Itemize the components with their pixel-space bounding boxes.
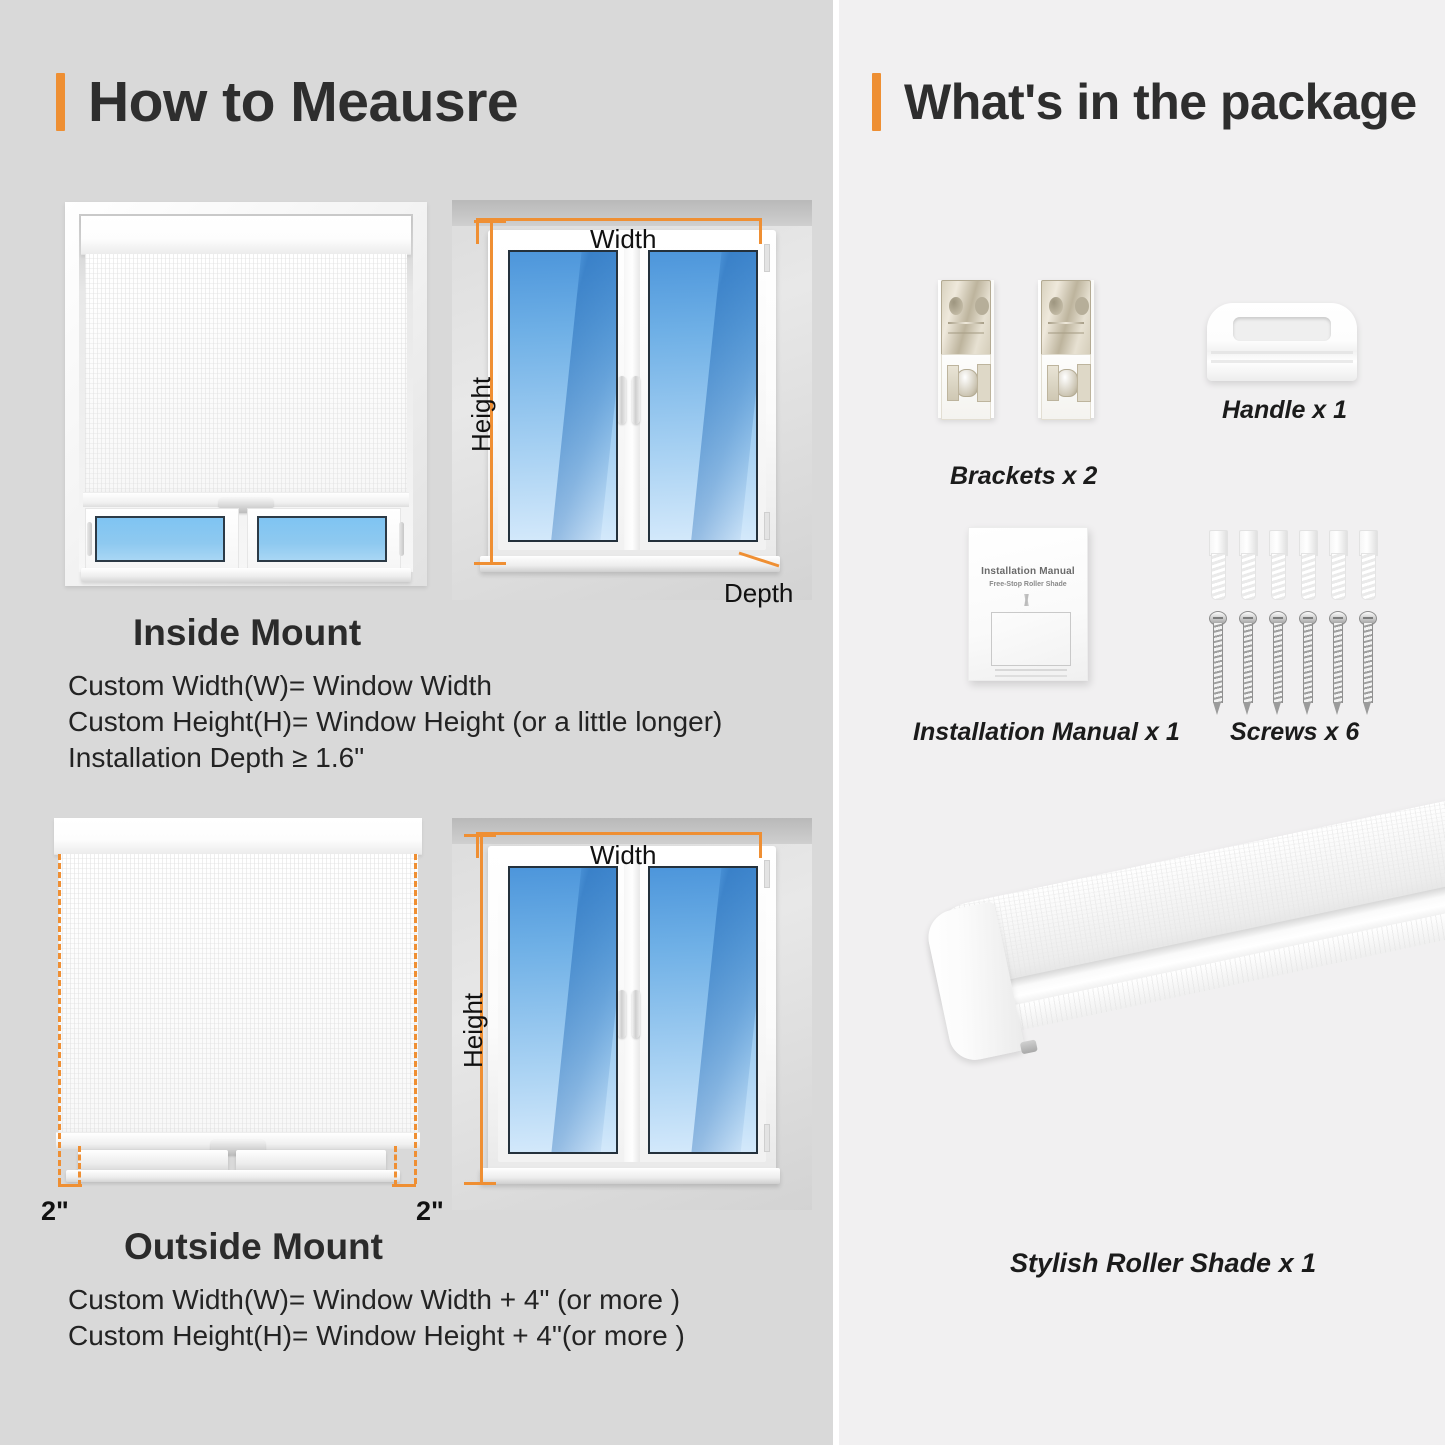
accent-bar-icon [872,73,881,131]
window-sill-ledge [66,1170,400,1182]
wall-anchor-1 [1209,530,1226,598]
screw-2 [1239,611,1255,715]
label-width: Width [590,224,656,255]
width-measure-line [476,218,762,221]
outside-mount-shade-illustration [36,810,440,1202]
how-to-measure-header: How to Meausre [56,73,518,131]
window-hinge-top-icon [764,244,770,272]
anchor-body [1301,553,1316,600]
infographic-page: How to Meausre [0,0,1445,1445]
sash-handle-right-icon [399,522,404,556]
screw-4 [1299,611,1315,715]
outside-mount-spec-2: Custom Height(H)= Window Height + 4"(or … [68,1320,685,1352]
bracket-item-1 [938,280,994,418]
height-measure-cap-bottom [464,1182,496,1185]
inside-mount-spec-1: Custom Width(W)= Window Width [68,670,492,702]
screw-shaft [1363,623,1373,703]
window-sill-left [78,1150,228,1172]
label-height: Height [458,993,489,1068]
width-measure-line [476,832,762,835]
window-sill [480,1168,780,1184]
shade-fabric [58,854,418,1134]
overhang-arrow-left [58,1184,82,1187]
overhang-arrow-right [392,1184,416,1187]
screw-tip [1273,702,1281,715]
screw-shaft [1243,623,1253,703]
whats-in-package-header: What's in the package [872,73,1417,131]
window-handle-left-icon [618,990,626,1038]
screw-shaft [1213,623,1223,703]
inside-mount-spec-2: Custom Height(H)= Window Height (or a li… [68,706,722,738]
width-measure-cap-right [759,218,762,244]
window-glass-right [257,516,387,562]
anchor-body [1331,553,1346,600]
label-width: Width [590,840,656,871]
screw-tip [1243,702,1251,715]
screw-tip [1333,702,1341,715]
window-edge-guide-left [78,1146,81,1186]
window-sill [480,556,780,572]
overhang-label-left: 2" [41,1196,69,1227]
manual-cover-subtitle: Free-Stop Roller Shade [969,581,1087,588]
anchor-body [1361,553,1376,600]
bracket-item-2 [1038,280,1094,418]
installation-manual-item: Installation Manual Free-Stop Roller Sha… [968,527,1088,681]
window-handle-right-icon [632,990,640,1038]
window-hinge-bottom-icon [764,1124,770,1152]
label-depth: Depth [724,578,793,609]
manual-cover-footer [995,669,1067,671]
bracket-face-plate [941,354,991,420]
window-pane-left [508,250,618,542]
window-glass-left [95,516,225,562]
window-pane-right [648,250,758,542]
wall-anchor-6 [1359,530,1376,598]
window-hinge-top-icon [764,860,770,888]
screw-shaft [1273,623,1283,703]
window-edge-guide-right [394,1146,397,1186]
screw-shaft [1303,623,1313,703]
width-measure-cap-right [759,832,762,858]
overhang-guide-left [58,854,61,1184]
anchor-body [1211,553,1226,600]
window-hinge-bottom-icon [764,512,770,540]
label-height: Height [466,377,497,452]
outside-mount-title: Outside Mount [124,1226,383,1268]
manual-cover-diagram [991,612,1071,666]
overhang-guide-right [414,854,417,1184]
roller-shade-pin [1020,1039,1038,1054]
wall-anchor-4 [1299,530,1316,598]
overhang-label-right: 2" [416,1196,444,1227]
manual-cover-title: Installation Manual [969,566,1087,577]
shade-headrail [54,818,422,855]
inside-mount-window-diagram: Width Height Depth [452,200,812,600]
screw-tip [1213,702,1221,715]
window-lintel [452,200,812,226]
brackets-label: Brackets x 2 [950,462,1097,491]
height-measure-cap-top [464,834,496,837]
height-measure-cap-bottom [474,562,506,565]
window-handle-left-icon [618,376,626,424]
outside-mount-spec-1: Custom Width(W)= Window Width + 4" (or m… [68,1284,680,1316]
window-sill-right [236,1150,386,1172]
roller-shade-product [900,880,1440,1220]
installation-manual-label: Installation Manual x 1 [913,718,1180,747]
screws-label: Screws x 6 [1230,718,1359,747]
screw-6 [1359,611,1375,715]
window-sill [81,568,411,582]
accent-bar-icon [56,73,65,131]
shade-fabric [85,254,407,494]
wall-anchor-3 [1269,530,1286,598]
roller-shade-label: Stylish Roller Shade x 1 [1010,1248,1316,1279]
handle-label: Handle x 1 [1222,396,1347,425]
wall-anchor-2 [1239,530,1256,598]
inside-mount-title: Inside Mount [133,612,361,654]
screw-shaft [1333,623,1343,703]
screw-5 [1329,611,1345,715]
page-title-left: How to Meausre [88,74,518,131]
bracket-face-plate [1041,354,1091,420]
screw-3 [1269,611,1285,715]
window-pane-right [648,866,758,1154]
height-measure-cap-top [474,220,506,223]
screw-tip [1303,702,1311,715]
manual-cover-scribble [999,594,1057,606]
anchor-body [1241,553,1256,600]
anchor-body [1271,553,1286,600]
window-handle-right-icon [632,376,640,424]
wall-anchor-5 [1329,530,1346,598]
handle-item [1207,303,1357,381]
page-title-right: What's in the package [904,77,1417,127]
screw-1 [1209,611,1225,715]
window-pane-left [508,866,618,1154]
shade-headrail [81,216,411,255]
screw-tip [1363,702,1371,715]
inside-mount-spec-3: Installation Depth ≥ 1.6" [68,742,364,774]
outside-mount-window-diagram: Width Height [452,818,812,1210]
inside-mount-shade-illustration [57,196,435,592]
sash-handle-left-icon [87,522,92,556]
